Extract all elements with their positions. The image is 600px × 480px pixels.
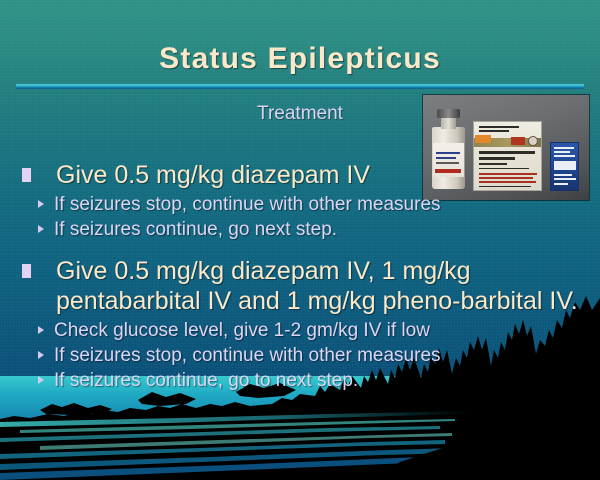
blue-carton-line bbox=[554, 155, 575, 157]
sub-bullet-item: Check glucose level, give 1-2 gm/kg IV i… bbox=[0, 318, 600, 343]
blue-carton-line bbox=[554, 147, 574, 149]
sub-bullet-text: If seizures stop, continue with other me… bbox=[54, 345, 441, 366]
bullet-text: Give 0.5 mg/kg diazepam IV, 1 mg/kg pent… bbox=[56, 257, 578, 315]
square-bullet-icon bbox=[22, 264, 31, 278]
brand-mark bbox=[511, 137, 525, 145]
triangle-bullet-icon bbox=[38, 326, 44, 334]
carton-text-line bbox=[479, 151, 535, 154]
vial-cap bbox=[437, 109, 460, 118]
sub-bullet-item: If seizures continue, go to next step. bbox=[0, 368, 600, 393]
sub-bullet-text: Check glucose level, give 1-2 gm/kg IV i… bbox=[54, 320, 430, 341]
bullet-group: Give 0.5 mg/kg diazepam IV, 1 mg/kg pent… bbox=[0, 256, 600, 393]
triangle-bullet-icon bbox=[38, 376, 44, 384]
carton-seal-icon bbox=[528, 136, 538, 146]
sub-bullet-item: If seizures stop, continue with other me… bbox=[0, 343, 600, 368]
carton-text-line bbox=[479, 126, 519, 128]
blue-carton-line bbox=[554, 151, 570, 153]
bullet-group: Give 0.5 mg/kg diazepam IV If seizures s… bbox=[0, 160, 600, 242]
title-divider bbox=[16, 84, 584, 89]
triangle-bullet-icon bbox=[38, 225, 44, 233]
presentation-slide: Status Epilepticus Treatment bbox=[0, 0, 600, 480]
vial-label-line bbox=[436, 152, 460, 154]
slide-body: Give 0.5 mg/kg diazepam IV If seizures s… bbox=[0, 160, 600, 395]
sub-bullet-item: If seizures continue, go next step. bbox=[0, 217, 600, 242]
bullet-item: Give 0.5 mg/kg diazepam IV bbox=[0, 160, 600, 190]
sub-bullet-text: If seizures stop, continue with other me… bbox=[54, 194, 441, 215]
sub-bullet-item: If seizures stop, continue with other me… bbox=[0, 192, 600, 217]
bullet-item: Give 0.5 mg/kg diazepam IV, 1 mg/kg pent… bbox=[0, 256, 600, 316]
triangle-bullet-icon bbox=[38, 200, 44, 208]
triangle-bullet-icon bbox=[38, 351, 44, 359]
square-bullet-icon bbox=[22, 168, 31, 182]
sub-bullet-text: If seizures continue, go to next step. bbox=[54, 370, 358, 391]
bullet-text: Give 0.5 mg/kg diazepam IV bbox=[56, 161, 370, 189]
page-title: Status Epilepticus bbox=[0, 42, 600, 76]
carton-orange-tab bbox=[475, 135, 491, 143]
carton-text-line bbox=[479, 130, 509, 132]
sub-bullet-text: If seizures continue, go next step. bbox=[54, 219, 337, 240]
vial-label-line bbox=[436, 157, 456, 159]
